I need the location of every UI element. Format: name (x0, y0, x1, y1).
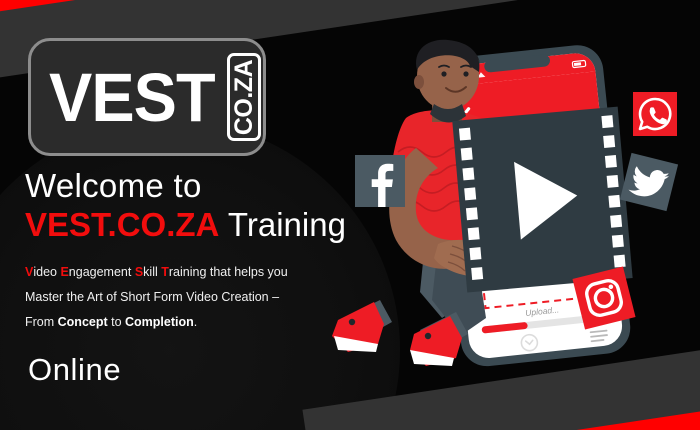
facebook-glyph (355, 155, 405, 207)
person-ear (414, 75, 424, 89)
tagline-engagement-rest: ngagement (69, 265, 135, 279)
tagline-skill-rest: kill (143, 265, 161, 279)
tagline-concept: Concept (58, 315, 108, 329)
facebook-icon[interactable] (355, 155, 405, 207)
tagline-completion: Completion (125, 315, 194, 329)
tagline-s: S (135, 265, 143, 279)
training-promo-banner: VEST CO.ZA Welcome to VEST.CO.ZA Trainin… (0, 0, 700, 430)
logo-domain-text: CO.ZA (230, 59, 259, 134)
whatsapp-icon[interactable] (633, 92, 677, 136)
hero-illustration: UPLOAD VIDEO Upload... (320, 0, 700, 430)
brand-name-text: VEST.CO.ZA (25, 206, 219, 243)
whatsapp-glyph (633, 92, 677, 136)
tagline-from: From (25, 315, 58, 329)
person-eye-left (441, 71, 446, 76)
tagline-period: . (194, 315, 197, 329)
video-film-strip (452, 107, 632, 293)
tagline-to: to (108, 315, 125, 329)
logo-domain-box: CO.ZA (227, 53, 261, 141)
tagline-training-rest: raining that helps you (169, 265, 288, 279)
tagline-t: T (161, 265, 169, 279)
tagline-video-rest: ideo (33, 265, 60, 279)
illustration-svg: UPLOAD VIDEO Upload... (320, 0, 700, 430)
vest-logo-badge[interactable]: VEST CO.ZA (28, 38, 266, 156)
person-shoe-left (332, 302, 384, 352)
person-eye-right (463, 71, 468, 76)
tagline-e: E (60, 265, 68, 279)
delivery-mode-label: Online (28, 352, 121, 388)
logo-wordmark: VEST (49, 63, 215, 132)
